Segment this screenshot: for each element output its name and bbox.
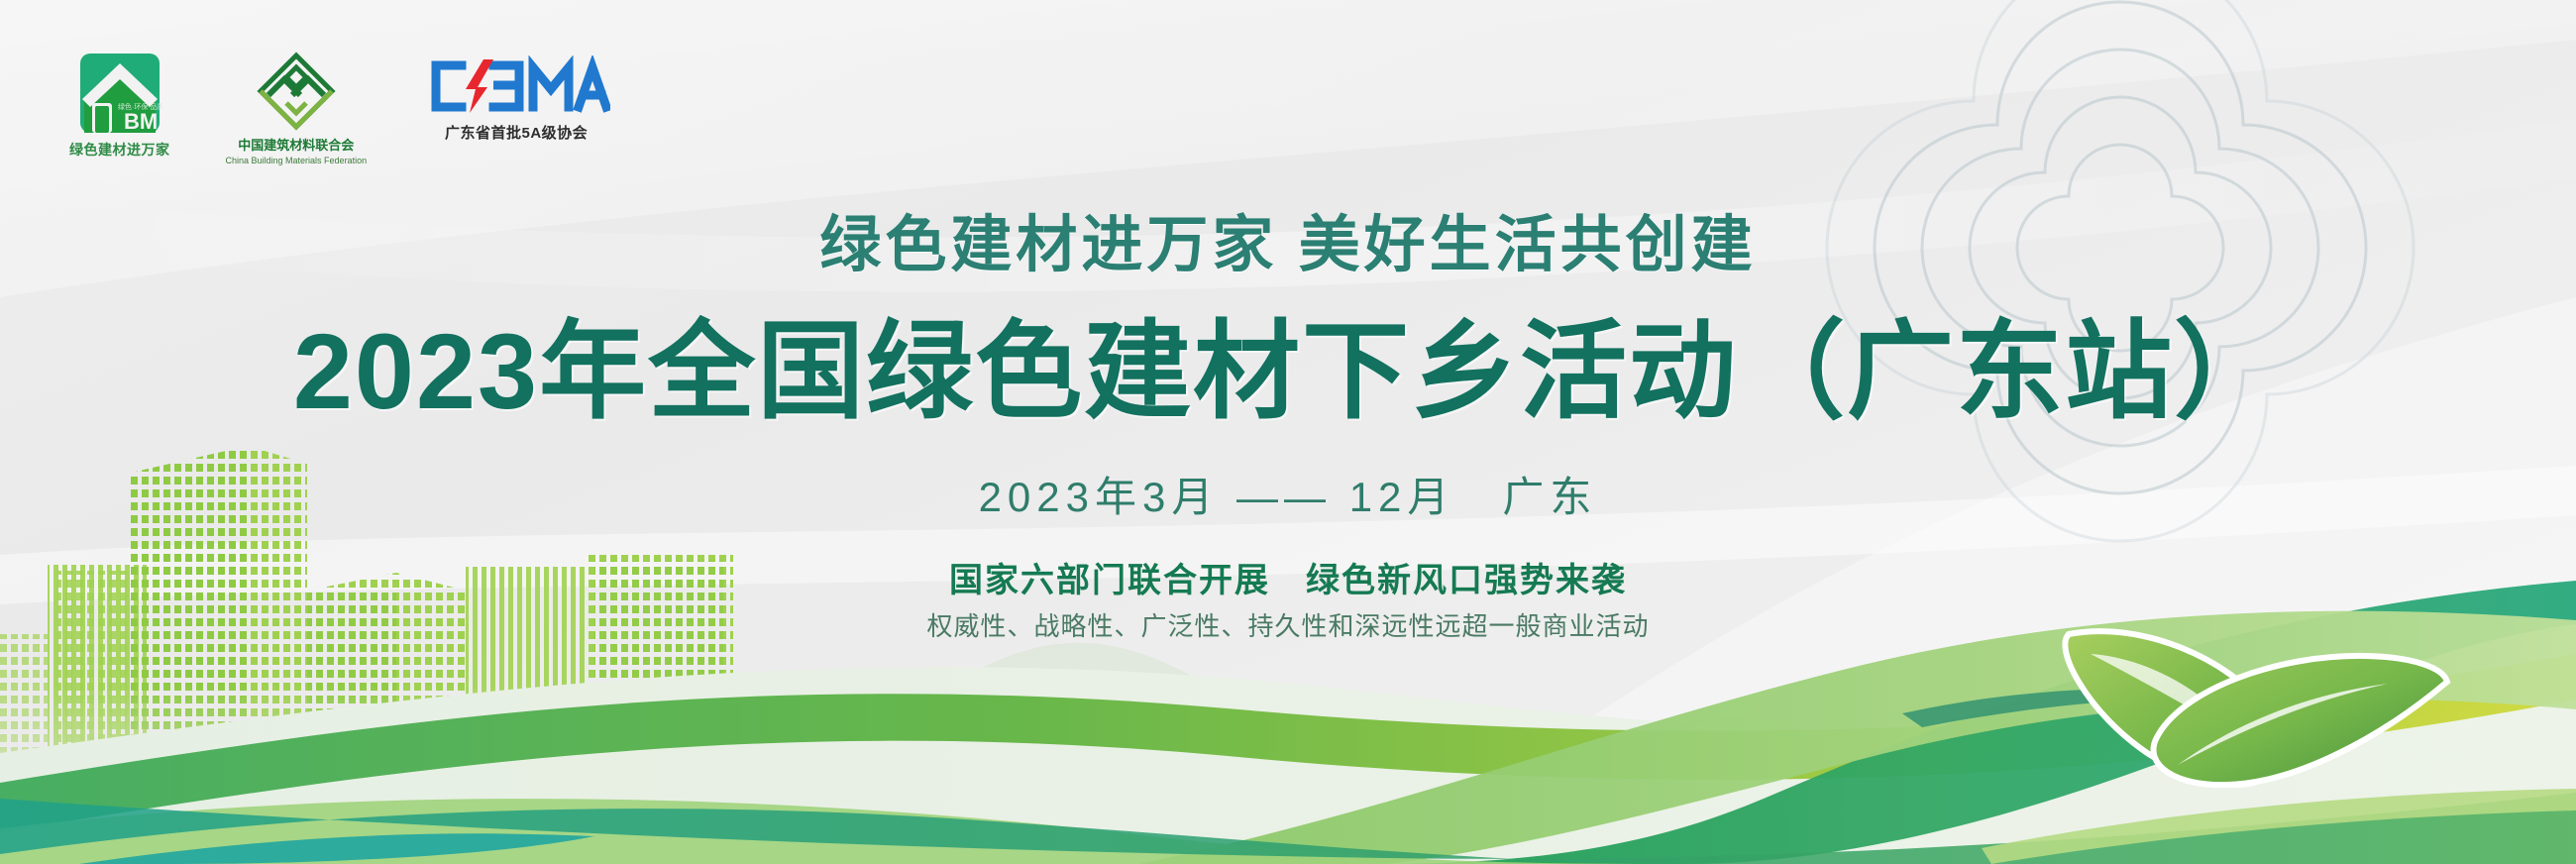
event-date-location: 2023年3月 —— 12月 广东: [0, 464, 2576, 524]
logo-caption: 中国建筑材料联合会: [238, 135, 354, 154]
logo-row: BM 绿色·环保·品质 绿色建材进万家 中国建筑材料联合会 China Buil…: [69, 52, 610, 165]
cbma-logo: 广东省首批5A级协会: [422, 55, 610, 143]
cbmf-logo: 中国建筑材料联合会 China Building Materials Feder…: [226, 52, 368, 165]
logo-caption: 广东省首批5A级协会: [445, 122, 588, 143]
headline-slogan: 绿色建材进万家 美好生活共创建: [0, 194, 2576, 283]
bm-house-icon: BM 绿色·环保·品质: [78, 52, 161, 135]
logo-caption-en: China Building Materials Federation: [226, 156, 368, 165]
svg-text:绿色·环保·品质: 绿色·环保·品质: [118, 102, 161, 111]
green-building-materials-logo: BM 绿色·环保·品质 绿色建材进万家: [69, 52, 170, 160]
event-banner: BM 绿色·环保·品质 绿色建材进万家 中国建筑材料联合会 China Buil…: [0, 0, 2576, 864]
cbma-wordmark-icon: [422, 55, 610, 117]
logo-caption: 绿色建材进万家: [69, 140, 170, 160]
cbmf-diamond-icon: [257, 52, 336, 131]
subtitle-small: 权威性、战略性、广泛性、持久性和深远性远超一般商业活动: [0, 606, 2576, 643]
subtitle-bold: 国家六部门联合开展 绿色新风口强势来袭: [0, 553, 2576, 601]
page-title: 2023年全国绿色建材下乡活动（广东站）: [0, 285, 2576, 440]
svg-text:BM: BM: [124, 109, 158, 134]
